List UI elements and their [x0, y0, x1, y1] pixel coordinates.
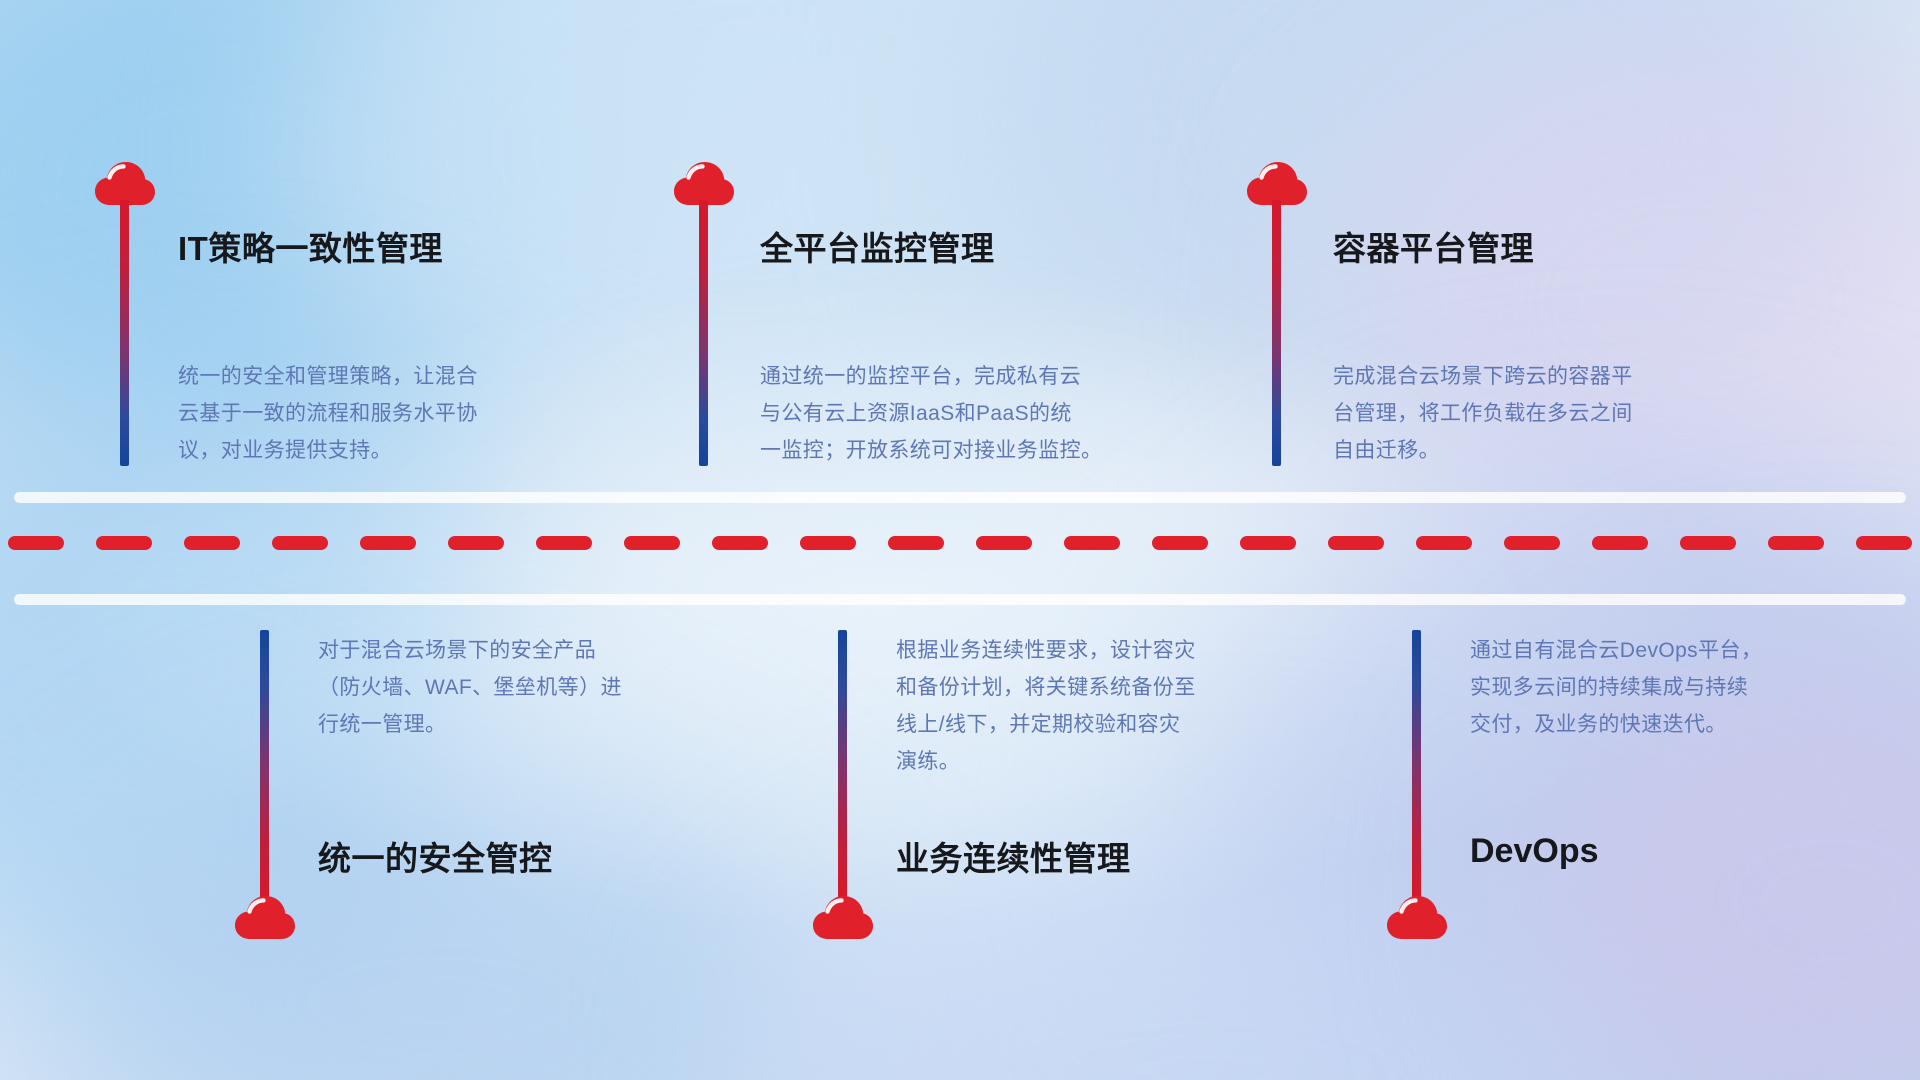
divider-dash [800, 536, 856, 550]
divider-dash [1240, 536, 1296, 550]
divider-dash [712, 536, 768, 550]
divider-dash [272, 536, 328, 550]
bottom-item-body: 对于混合云场景下的安全产品 （防火墙、WAF、堡垒机等）进 行统一管理。 [318, 632, 748, 743]
cloud-icon [811, 894, 875, 940]
connector-pole [699, 200, 708, 466]
divider-dash [1856, 536, 1912, 550]
divider-dash [536, 536, 592, 550]
divider-dash [976, 536, 1032, 550]
divider-dash [8, 536, 64, 550]
connector-pole [1412, 630, 1421, 900]
connector-pole [838, 630, 847, 900]
top-item-title: IT策略一致性管理 [178, 222, 443, 270]
top-item-title: 容器平台管理 [1333, 222, 1534, 270]
connector-pole [120, 200, 129, 466]
divider-dash [1064, 536, 1120, 550]
divider-rule-bottom [14, 594, 1906, 605]
bottom-item-body: 根据业务连续性要求，设计容灾 和备份计划，将关键系统备份至 线上/线下，并定期校… [896, 632, 1326, 780]
infographic-canvas: IT策略一致性管理 统一的安全和管理策略，让混合 云基于一致的流程和服务水平协 … [0, 0, 1920, 1080]
divider-dash [360, 536, 416, 550]
divider-dash [1680, 536, 1736, 550]
cloud-icon [233, 894, 297, 940]
divider-rule-top [14, 492, 1906, 503]
divider-dash [1152, 536, 1208, 550]
divider-dash [888, 536, 944, 550]
divider-dash [1504, 536, 1560, 550]
divider-dash [1592, 536, 1648, 550]
divider-dash [1768, 536, 1824, 550]
bottom-item-title: 业务连续性管理 [896, 832, 1131, 880]
divider [0, 484, 1920, 612]
top-item-title: 全平台监控管理 [760, 222, 995, 270]
top-item-body: 统一的安全和管理策略，让混合 云基于一致的流程和服务水平协 议，对业务提供支持。 [178, 358, 598, 469]
bottom-item-title: 统一的安全管控 [318, 832, 553, 880]
divider-dash [184, 536, 240, 550]
bottom-item-title: DevOps [1470, 832, 1599, 871]
divider-dash [1328, 536, 1384, 550]
top-item-body: 完成混合云场景下跨云的容器平 台管理，将工作负载在多云之间 自由迁移。 [1333, 358, 1763, 469]
connector-pole [1272, 200, 1281, 466]
divider-dash [96, 536, 152, 550]
divider-dash [624, 536, 680, 550]
top-item-body: 通过统一的监控平台，完成私有云 与公有云上资源IaaS和PaaS的统 一监控；开… [760, 358, 1200, 469]
divider-dash [1416, 536, 1472, 550]
divider-dashed-line [0, 536, 1920, 550]
cloud-icon [1385, 894, 1449, 940]
connector-pole [260, 630, 269, 900]
divider-dash [448, 536, 504, 550]
bottom-item-body: 通过自有混合云DevOps平台， 实现多云间的持续集成与持续 交付，及业务的快速… [1470, 632, 1900, 743]
